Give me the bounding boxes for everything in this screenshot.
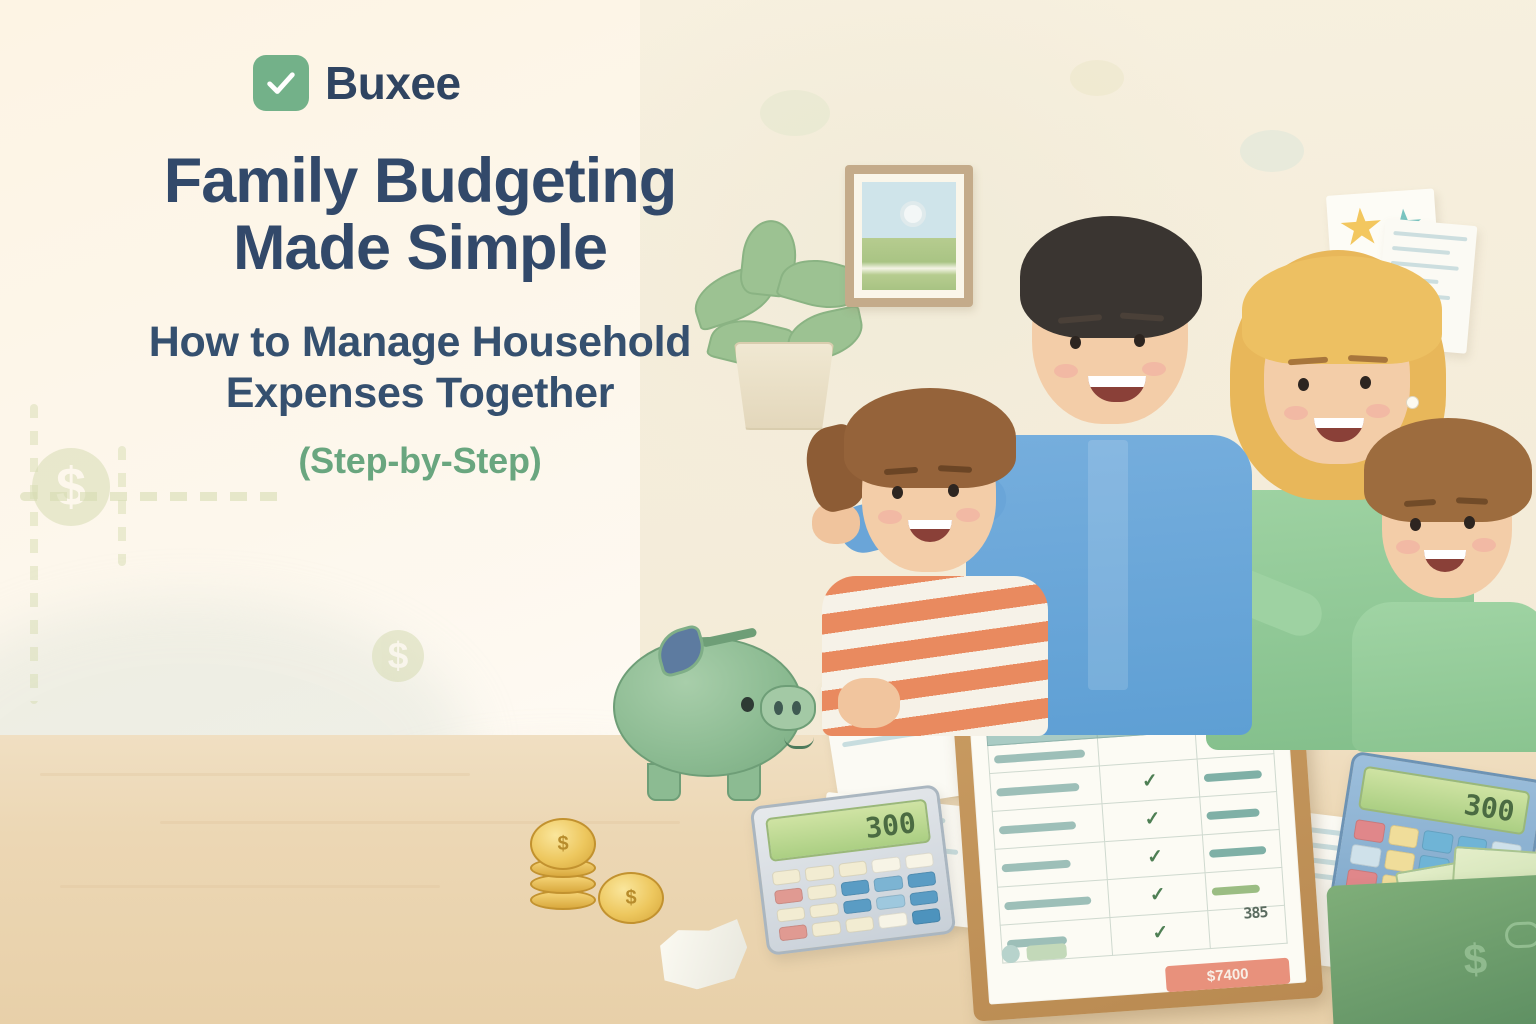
value-bar [996, 782, 1080, 796]
tag-icon [1026, 943, 1067, 961]
calculator-key[interactable] [842, 898, 872, 915]
calculator-key[interactable] [840, 879, 870, 896]
person-daughter [822, 388, 1052, 718]
cell-check: ✓ [1110, 911, 1211, 956]
cell-spent [1203, 829, 1282, 872]
calculator-key[interactable] [876, 893, 906, 910]
calculator-key[interactable] [907, 871, 937, 888]
budget-subtotal: 385 [1243, 903, 1268, 923]
wall-speck [760, 90, 830, 136]
wall-speck [1070, 60, 1124, 96]
earring-icon [1406, 396, 1419, 409]
father-hair [1020, 216, 1202, 338]
wood-grain [40, 773, 470, 776]
calculator-key[interactable] [838, 860, 868, 877]
promo-banner: $ $ $ $ $ $ Buxee Family Budgeting Made … [0, 0, 1536, 1024]
wood-grain [160, 821, 680, 824]
father-cheek [1142, 362, 1166, 376]
dollar-watermark-icon: $ [372, 630, 424, 682]
calculator-left[interactable]: 300 [750, 784, 957, 956]
coin-face: $ [598, 872, 664, 924]
calculator-key[interactable] [911, 908, 941, 925]
framed-picture [845, 165, 973, 307]
daughter-cheek [956, 508, 980, 522]
value-bar [994, 749, 1086, 763]
daughter-eye [892, 486, 903, 499]
mother-hair-front [1242, 256, 1442, 364]
calculator-key[interactable] [873, 875, 903, 892]
calculator-key[interactable] [778, 924, 808, 941]
calculator-key[interactable] [772, 868, 802, 885]
calculator-key[interactable] [845, 916, 875, 933]
calculator-keypad[interactable] [772, 852, 941, 941]
dashed-line [20, 492, 290, 501]
wallet: $ [1326, 874, 1536, 1024]
son-eye [1464, 516, 1475, 529]
value-bar [999, 821, 1077, 834]
calculator-key[interactable] [1353, 819, 1385, 843]
daughter-cheek [878, 510, 902, 524]
circle-icon [1001, 944, 1020, 963]
mother-eye [1360, 376, 1371, 389]
piggy-nostril [774, 701, 783, 715]
piggy-nostril [792, 701, 801, 715]
value-bar [1204, 770, 1262, 782]
value-bar [1004, 896, 1092, 910]
page-title: Family Budgeting Made Simple [40, 148, 800, 283]
check-square-icon [253, 55, 309, 111]
son-hair [1364, 418, 1532, 522]
mother-cheek [1284, 406, 1308, 420]
cell-spent [1198, 754, 1277, 797]
frame-artwork [862, 182, 956, 290]
page-subtitle: How to Manage Household Expenses Togethe… [40, 317, 800, 418]
calculator-display: 300 [765, 799, 931, 862]
calculator-key[interactable] [805, 864, 835, 881]
sun-icon [900, 201, 926, 227]
son-eye [1410, 518, 1421, 531]
tagline: (Step-by-Step) [40, 440, 800, 482]
son-cheek [1396, 540, 1420, 554]
cell-spent [1200, 792, 1279, 835]
value-bar [1212, 884, 1260, 895]
wall-speck [1240, 130, 1304, 172]
brand-name: Buxee [325, 60, 461, 106]
calculator-key[interactable] [909, 889, 939, 906]
headline-line-2: Made Simple [233, 213, 607, 283]
headline-line-1: Family Budgeting [164, 146, 677, 216]
father-eye [1134, 334, 1145, 347]
value-bar [1209, 845, 1266, 857]
calculator-key[interactable] [774, 887, 804, 904]
sheet-footer-icons [1001, 941, 1067, 963]
piggy-smile [784, 737, 814, 749]
frame-mat [854, 174, 964, 298]
mother-eye [1298, 378, 1309, 391]
dashed-line [30, 404, 38, 704]
father-cheek [1054, 364, 1078, 378]
daughter-hand [838, 678, 900, 728]
wood-grain [60, 885, 440, 888]
person-son [1352, 412, 1536, 732]
piggy-snout [760, 685, 816, 731]
calculator-key[interactable] [904, 852, 934, 869]
calculator-key[interactable] [871, 856, 901, 873]
calculator-key[interactable] [776, 906, 806, 923]
calculator-key[interactable] [1421, 830, 1453, 854]
father-eye [1070, 336, 1081, 349]
wallet-clasp [1504, 921, 1536, 949]
piggy-bank [605, 615, 820, 815]
value-bar [1001, 859, 1071, 872]
subhead-line-2: Expenses Together [226, 369, 614, 417]
dollar-sign-icon: $ [1462, 935, 1488, 984]
headline-block: Family Budgeting Made Simple How to Mana… [40, 148, 800, 482]
daughter-hair [844, 388, 1016, 488]
budget-total-badge: $7400 [1165, 958, 1291, 993]
calculator-key[interactable] [878, 912, 908, 929]
calculator-key[interactable] [807, 883, 837, 900]
piggy-eye [741, 697, 754, 712]
calculator-key[interactable] [812, 920, 842, 937]
son-cheek [1472, 538, 1496, 552]
calculator-key[interactable] [809, 902, 839, 919]
coin-face: $ [530, 818, 596, 870]
daughter-eye [948, 484, 959, 497]
shirt-placket [1088, 440, 1128, 690]
calculator-key[interactable] [1349, 844, 1381, 868]
brand-logo[interactable]: Buxee [253, 55, 461, 111]
son-shirt [1352, 602, 1536, 752]
value-bar [1207, 808, 1260, 820]
calculator-key[interactable] [1387, 824, 1419, 848]
subhead-line-1: How to Manage Household [149, 318, 692, 366]
